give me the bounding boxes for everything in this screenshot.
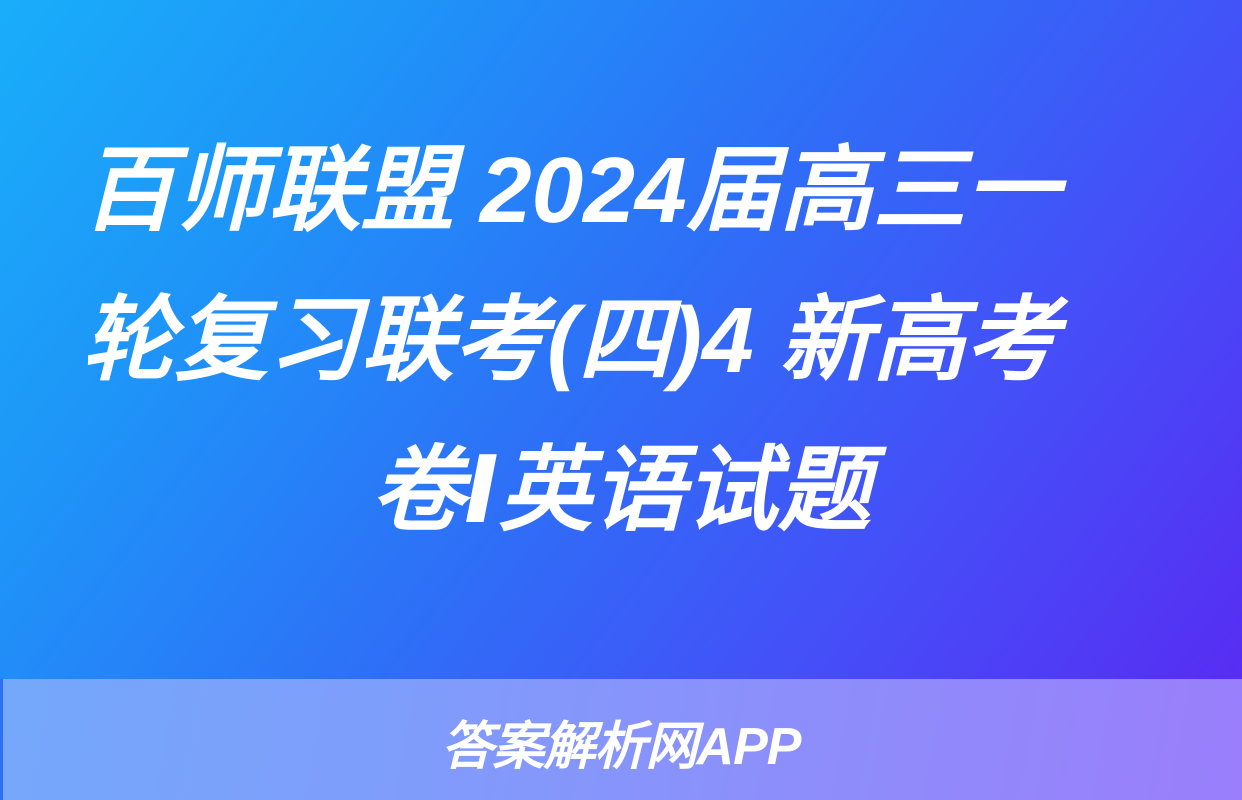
- footer-band: 答案解析网APP: [0, 679, 1242, 800]
- hero-section: 百师联盟 2024届高三一 轮复习联考(四)4 新高考 卷Ⅰ英语试题: [0, 0, 1242, 679]
- watermark-label: 答案解析网APP: [442, 716, 801, 778]
- title-line-2: 轮复习联考(四)4 新高考: [76, 265, 1166, 415]
- poster-canvas: 百师联盟 2024届高三一 轮复习联考(四)4 新高考 卷Ⅰ英语试题 答案解析网…: [0, 0, 1242, 800]
- page-title: 百师联盟 2024届高三一 轮复习联考(四)4 新高考 卷Ⅰ英语试题: [76, 115, 1166, 565]
- title-line-3: 卷Ⅰ英语试题: [76, 415, 1166, 565]
- title-line-1: 百师联盟 2024届高三一: [76, 115, 1166, 265]
